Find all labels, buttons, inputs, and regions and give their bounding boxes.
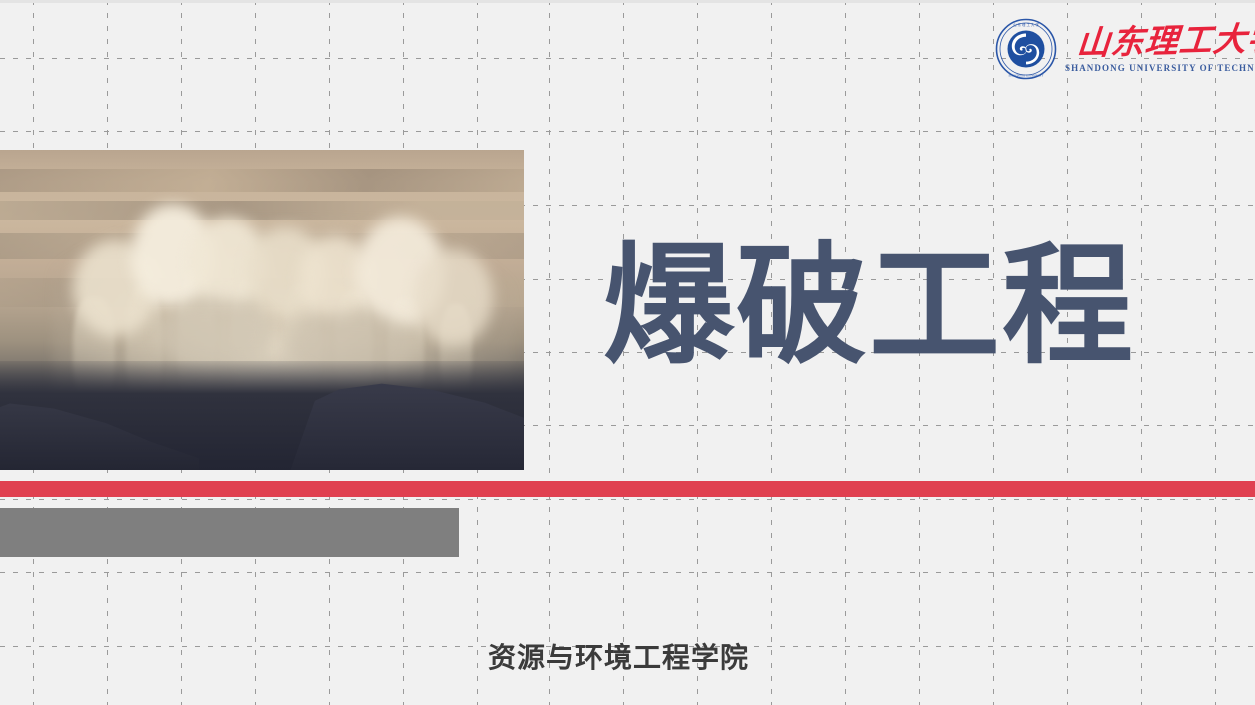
svg-text:山 东 理 工 大 学: 山 东 理 工 大 学 [1013, 22, 1039, 27]
presentation-slide: 山 东 理 工 大 学 SHANDONG UNIVERSITY 山东理工大学 S… [0, 0, 1255, 705]
svg-text:SHANDONG UNIVERSITY: SHANDONG UNIVERSITY [1009, 74, 1044, 78]
photo-ridge [0, 201, 524, 220]
logo-english-name: SHANDONG UNIVERSITY OF TECHNOLOGY [1065, 63, 1255, 74]
slide-title: 爆破工程 [603, 238, 1163, 373]
top-edge-strip [0, 0, 1255, 3]
subtitle-placeholder [0, 508, 459, 557]
accent-bar [0, 481, 1255, 497]
grid-line-horizontal [0, 572, 1255, 573]
grid-line-horizontal [0, 499, 1255, 500]
grid-line-horizontal [0, 131, 1255, 132]
slide-footer: 资源与环境工程学院 [488, 641, 749, 675]
university-seal-icon: 山 东 理 工 大 学 SHANDONG UNIVERSITY [995, 18, 1057, 80]
grid-line-vertical [549, 0, 550, 705]
grid-line-vertical [1215, 0, 1216, 705]
photo-dust-plume [414, 249, 493, 345]
logo-text-group: 山东理工大学 SHANDONG UNIVERSITY OF TECHNOLOGY [1065, 18, 1255, 74]
blasting-photo [0, 150, 524, 470]
university-logo: 山 东 理 工 大 学 SHANDONG UNIVERSITY 山东理工大学 S… [995, 18, 1227, 86]
photo-ridge [0, 169, 524, 191]
logo-chinese-name: 山东理工大学 [1076, 19, 1255, 61]
photo-dust-plume [157, 297, 272, 367]
